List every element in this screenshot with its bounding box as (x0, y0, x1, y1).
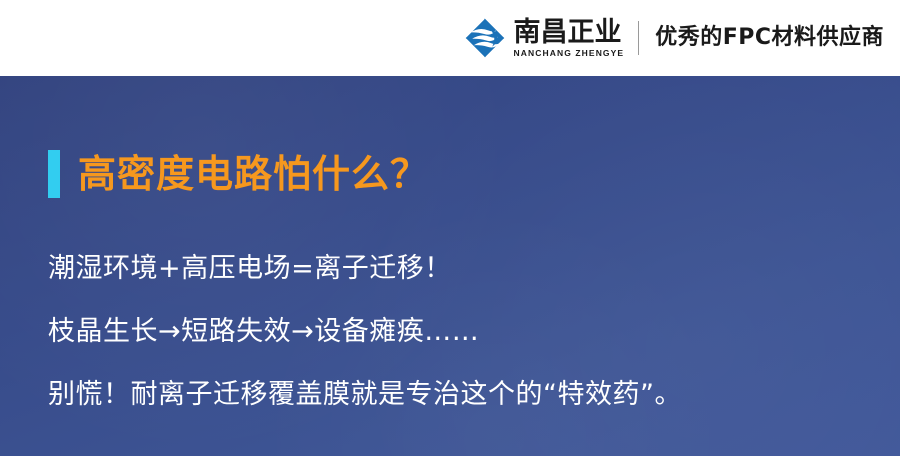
brand-name-cn: 南昌正业 (514, 18, 625, 47)
body-copy: 潮湿环境+高压电场=离子迁移！ 枝晶生长→短路失效→设备瘫痪…… 别慌！耐离子迁… (48, 251, 858, 413)
brand-tagline: 优秀的FPC材料供应商 (655, 25, 884, 51)
brand-lockup[interactable]: 南昌正业 NANCHANG ZHENGYE 优秀的FPC材料供应商 (465, 15, 884, 61)
brand-name-en: NANCHANG ZHENGYE (514, 48, 625, 59)
brand-divider (638, 21, 639, 55)
brand-name-block: 南昌正业 NANCHANG ZHENGYE (514, 16, 625, 60)
company-logo-icon (465, 18, 505, 58)
body-line-2: 枝晶生长→短路失效→设备瘫痪…… (48, 314, 858, 350)
headline-row: 高密度电路怕什么？ (48, 150, 429, 198)
promo-banner: 南昌正业 NANCHANG ZHENGYE 优秀的FPC材料供应商 高密度电路怕… (0, 0, 900, 456)
body-line-1: 潮湿环境+高压电场=离子迁移！ (48, 251, 858, 287)
site-header: 南昌正业 NANCHANG ZHENGYE 优秀的FPC材料供应商 (0, 0, 900, 76)
headline-accent-bar (48, 150, 60, 198)
body-line-3: 别慌！耐离子迁移覆盖膜就是专治这个的“特效药”。 (48, 377, 858, 413)
page-title: 高密度电路怕什么？ (78, 151, 429, 197)
content-panel: 高密度电路怕什么？ 潮湿环境+高压电场=离子迁移！ 枝晶生长→短路失效→设备瘫痪… (0, 76, 900, 456)
